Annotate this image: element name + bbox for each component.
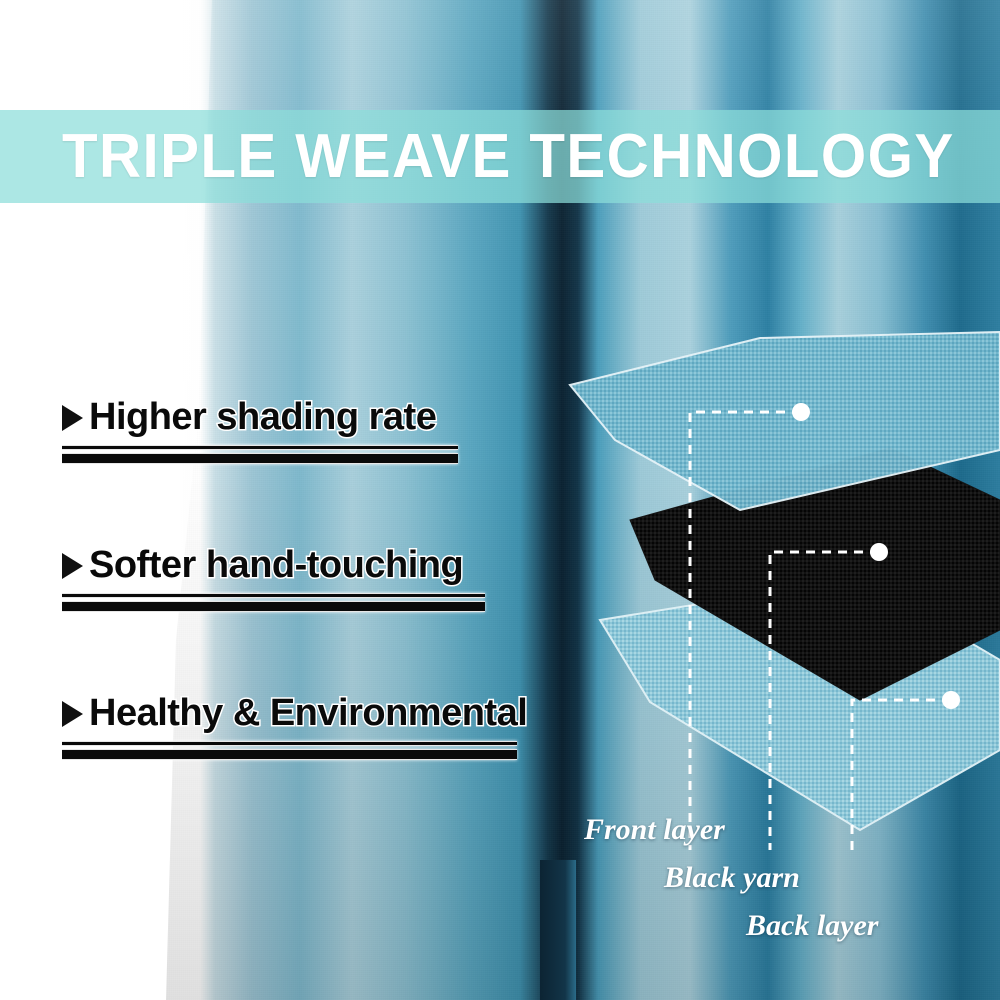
feature-underline bbox=[62, 445, 458, 464]
triangle-right-icon bbox=[62, 405, 83, 431]
diagram-callout-labels: Front layer Black yarn Back layer bbox=[560, 805, 1000, 965]
callout-back-layer: Back layer bbox=[746, 909, 878, 943]
page-title: TRIPLE WEAVE TECHNOLOGY bbox=[62, 126, 955, 188]
underline-thin-rule bbox=[62, 593, 485, 598]
feature-list: Higher shading rate Softer hand-touching… bbox=[62, 398, 582, 842]
product-feature-image: TRIPLE WEAVE TECHNOLOGY Higher shading r… bbox=[0, 0, 1000, 1000]
callout-front-layer: Front layer bbox=[584, 813, 725, 847]
feature-underline bbox=[62, 593, 485, 612]
list-item: Higher shading rate bbox=[62, 398, 582, 464]
list-item: Softer hand-touching bbox=[62, 546, 582, 612]
feature-underline bbox=[62, 741, 517, 760]
triangle-right-icon bbox=[62, 701, 83, 727]
feature-label: Healthy & Environmental bbox=[89, 694, 527, 734]
feature-label: Softer hand-touching bbox=[89, 546, 463, 586]
feature-label: Higher shading rate bbox=[89, 398, 436, 438]
title-banner: TRIPLE WEAVE TECHNOLOGY bbox=[0, 110, 1000, 203]
triangle-right-icon bbox=[62, 553, 83, 579]
underline-thin-rule bbox=[62, 741, 517, 746]
underline-thick-rule bbox=[62, 749, 517, 760]
underline-thick-rule bbox=[62, 601, 485, 612]
callout-black-yarn: Black yarn bbox=[664, 861, 800, 895]
underline-thin-rule bbox=[62, 445, 458, 450]
fabric-layers-diagram bbox=[560, 330, 1000, 850]
list-item: Healthy & Environmental bbox=[62, 694, 582, 760]
underline-thick-rule bbox=[62, 453, 458, 464]
